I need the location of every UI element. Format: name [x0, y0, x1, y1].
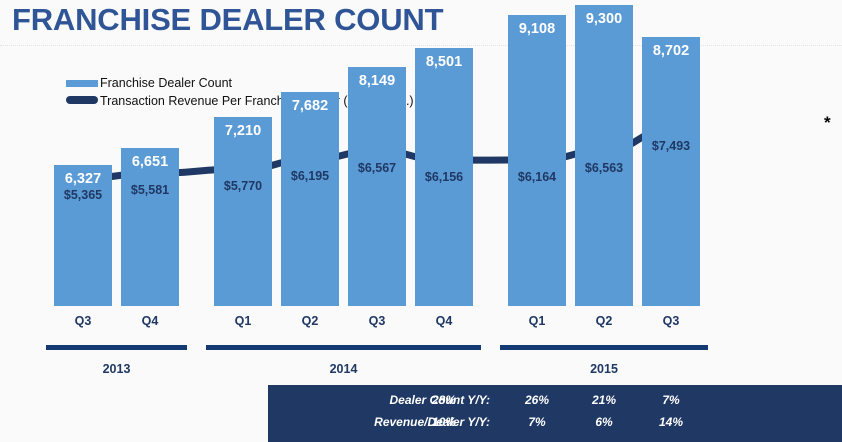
x-axis-label-q1: Q1	[208, 314, 278, 328]
bar-q4-1	[121, 148, 179, 306]
x-axis-label-q3: Q3	[342, 314, 412, 328]
bar-value-label: 6,327	[48, 171, 118, 187]
yoy-row: Revenue/Dealer Y/Y:10%7%6%14%	[268, 415, 842, 437]
revenue-value-label: $6,567	[340, 161, 414, 175]
x-axis-label-q2: Q2	[569, 314, 639, 328]
x-axis-label-q3: Q3	[636, 314, 706, 328]
year-label-2015: 2015	[500, 362, 708, 376]
bar-q1-6	[508, 15, 566, 306]
revenue-value-label: $5,581	[113, 183, 187, 197]
x-axis-label-q2: Q2	[275, 314, 345, 328]
revenue-value-label: $5,365	[46, 188, 120, 202]
revenue-value-label: $6,164	[500, 170, 574, 184]
x-axis-label-q3: Q3	[48, 314, 118, 328]
bar-value-label: 7,210	[208, 123, 278, 139]
bar-q1-2	[214, 117, 272, 306]
bar-q2-7	[575, 5, 633, 306]
yoy-summary-table: Dealer Count Y/Y:28%26%21%7%Revenue/Deal…	[268, 385, 842, 442]
bar-value-label: 6,651	[115, 154, 185, 170]
yoy-value: 7%	[507, 415, 567, 429]
year-group-rule-2015	[500, 345, 708, 350]
revenue-value-label: $5,770	[206, 179, 280, 193]
x-axis-label-q1: Q1	[502, 314, 572, 328]
bar-value-label: 7,682	[275, 98, 345, 114]
x-axis-label-q4: Q4	[409, 314, 479, 328]
yoy-value: 14%	[641, 415, 701, 429]
revenue-value-label: $7,493	[634, 139, 708, 153]
revenue-value-label: $6,156	[407, 170, 481, 184]
year-group-rule-2013	[46, 345, 187, 350]
slide-canvas: FRANCHISE DEALER COUNT Franchise Dealer …	[0, 0, 842, 442]
chart-plot-area: 6,327$5,365Q36,651$5,581Q47,210$5,770Q17…	[0, 0, 842, 442]
asterisk-annotation: *	[824, 113, 831, 133]
year-label-2014: 2014	[206, 362, 481, 376]
yoy-value: 10%	[414, 415, 474, 429]
yoy-value: 6%	[574, 415, 634, 429]
bar-value-label: 8,501	[409, 54, 479, 70]
bar-value-label: 9,300	[569, 11, 639, 27]
bar-value-label: 8,149	[342, 73, 412, 89]
revenue-value-label: $6,563	[567, 161, 641, 175]
yoy-value: 7%	[641, 393, 701, 407]
yoy-value: 21%	[574, 393, 634, 407]
bar-q3-4	[348, 67, 406, 306]
x-axis-label-q4: Q4	[115, 314, 185, 328]
bar-q3-8	[642, 37, 700, 306]
yoy-value: 26%	[507, 393, 567, 407]
yoy-row: Dealer Count Y/Y:28%26%21%7%	[268, 393, 842, 415]
year-group-rule-2014	[206, 345, 481, 350]
bar-q2-3	[281, 92, 339, 306]
bar-value-label: 8,702	[636, 43, 706, 59]
revenue-value-label: $6,195	[273, 169, 347, 183]
yoy-value: 28%	[414, 393, 474, 407]
bar-value-label: 9,108	[502, 21, 572, 37]
year-label-2013: 2013	[46, 362, 187, 376]
